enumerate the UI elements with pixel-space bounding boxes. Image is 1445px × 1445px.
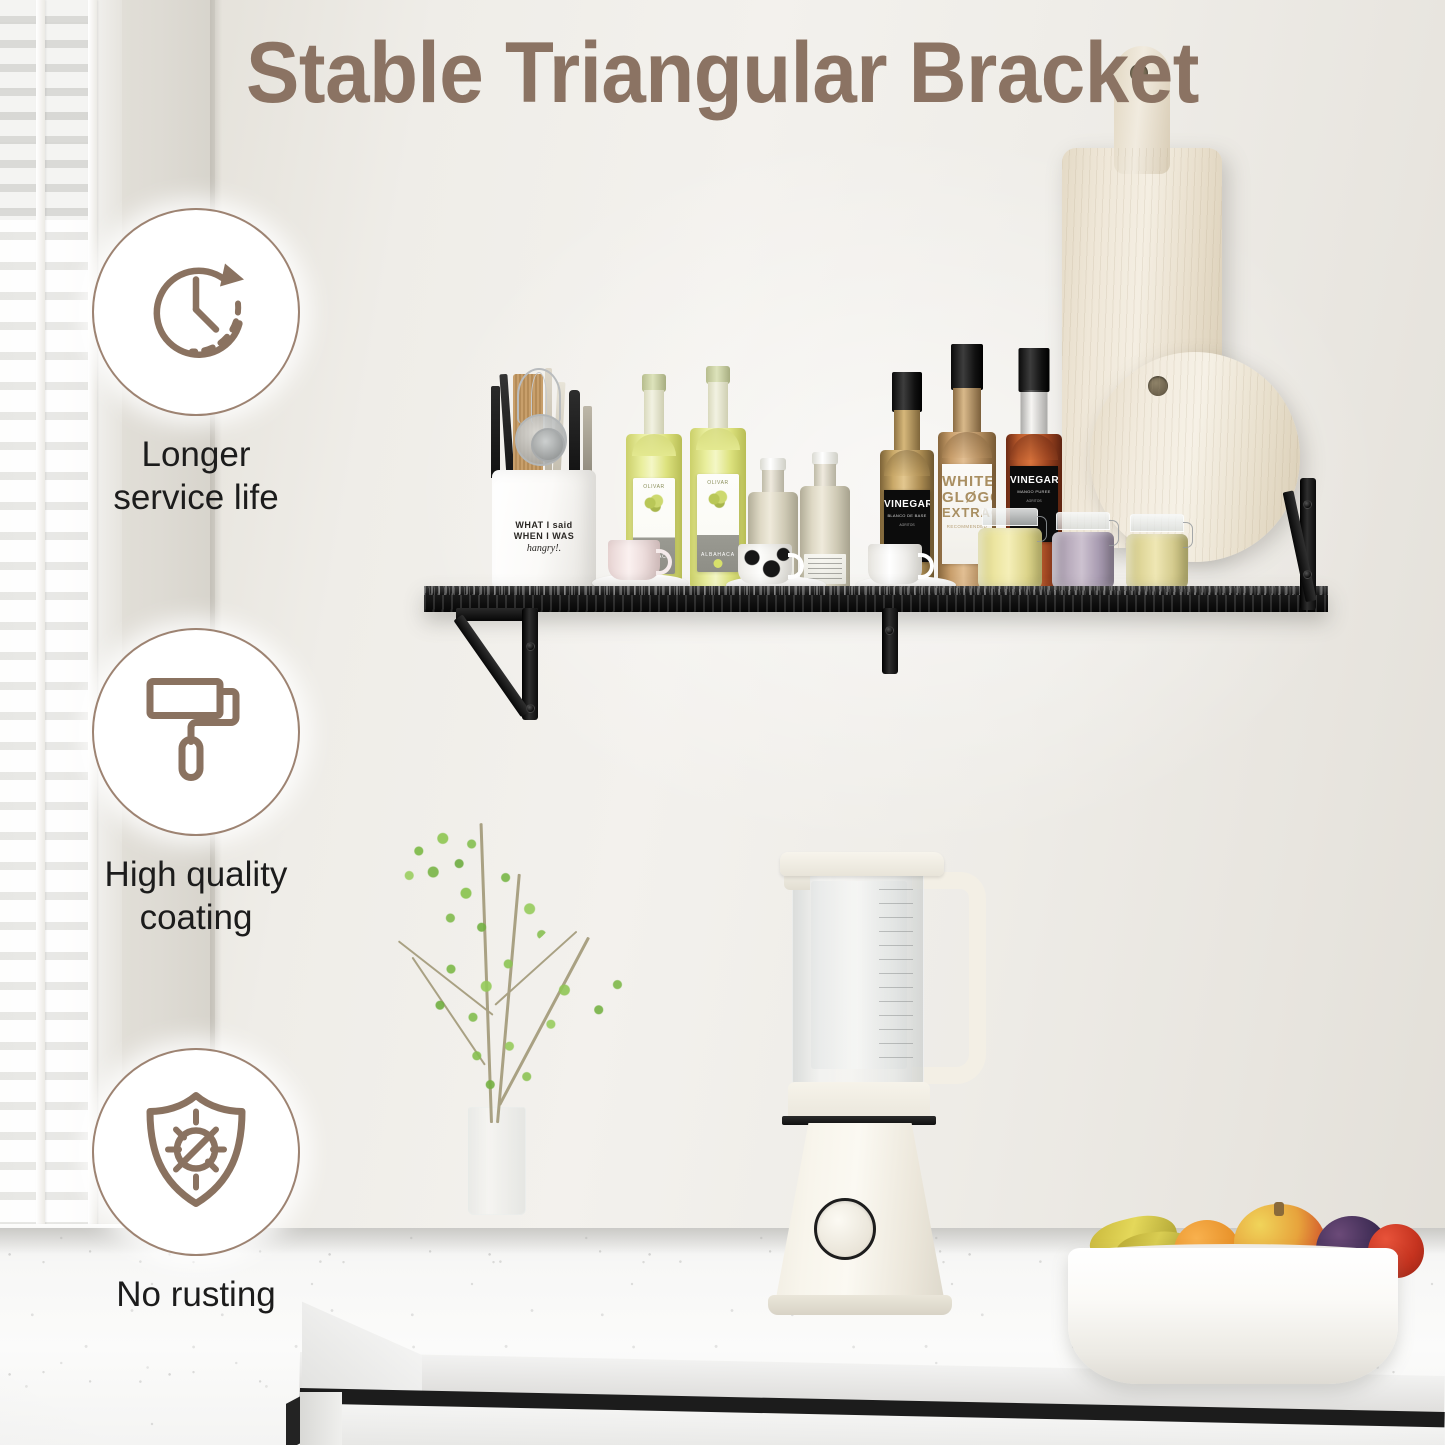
bottle-shoulder — [1010, 434, 1058, 460]
feature-high-quality-coating: High quality coating — [66, 628, 326, 939]
window-mullion-left — [36, 0, 45, 1250]
kitchen-utensils — [487, 366, 605, 478]
jar-clip-lid — [982, 508, 1038, 526]
blender — [762, 840, 1002, 1322]
milk-label-lines — [808, 558, 842, 580]
utensil-scraper — [569, 390, 580, 478]
bracket-screw-bottom — [1303, 570, 1312, 579]
jar-clip-latch — [1109, 520, 1119, 546]
jar-contents-yellow-grain — [978, 528, 1042, 590]
bottle-cap — [951, 344, 983, 390]
plant-leaf-cluster-5 — [448, 1027, 544, 1107]
feature-label-1: Longer service life — [66, 434, 326, 519]
bottle-shoulder — [884, 450, 930, 476]
wood-grain-texture-round — [1090, 352, 1300, 562]
fruit-mango-stem — [1274, 1202, 1284, 1216]
milk-bottle-right — [800, 452, 850, 590]
jar-clip-latch — [1037, 516, 1047, 542]
milk-bottle-body — [800, 486, 850, 590]
paint-roller-icon — [134, 668, 258, 797]
oil-bottle-label: OLIVAR ALBAHACA — [697, 474, 739, 572]
cabinet-side-panel — [300, 1392, 342, 1445]
plant-leaf-cluster-3 — [418, 945, 528, 1031]
bottle-cap — [892, 372, 922, 412]
white-mug — [868, 544, 922, 584]
plant-leaf-cluster-4 — [528, 963, 632, 1053]
feature-badge-circle — [92, 628, 300, 836]
page-title: Stable Triangular Bracket — [51, 24, 1395, 123]
oil-bottle-neck — [644, 390, 664, 440]
jar-clip-lid — [1056, 512, 1111, 530]
jar-contents-mixed-grain — [1126, 534, 1188, 590]
feature-label-3: No rusting — [66, 1274, 326, 1317]
fruit-bowl — [1068, 1196, 1398, 1384]
blender-measurement-marks — [879, 889, 913, 1059]
jar-clip-lid — [1130, 514, 1185, 532]
triangular-bracket-middle — [880, 608, 902, 676]
feature-label-2: High quality coating — [66, 854, 326, 939]
bracket-screw-top — [526, 642, 535, 651]
pink-mug — [608, 540, 660, 580]
bracket-vertical-arm — [882, 608, 898, 674]
utensil-crock: WHAT I said WHEN I WAS hangry!. — [492, 470, 596, 592]
blender-lid — [780, 852, 944, 876]
polka-dot-mug — [738, 544, 792, 584]
bracket-screw — [885, 626, 894, 635]
shelf-top-surface — [424, 586, 1328, 595]
clock-rotate-icon — [132, 246, 260, 379]
cutting-board-round — [1090, 352, 1300, 562]
bottle-shoulder — [942, 432, 992, 458]
feature-badge-circle — [92, 1048, 300, 1256]
strainer-small — [531, 428, 565, 462]
oil-bottle-shoulder — [696, 428, 740, 450]
shield-no-rust-icon — [130, 1084, 262, 1221]
jar-contents-purple-seeds — [1052, 532, 1114, 590]
jar-clip-latch — [1183, 522, 1193, 548]
storage-jar-mixed — [1126, 514, 1188, 590]
storage-jar-yellow — [978, 508, 1042, 590]
bottle-cap — [1019, 348, 1050, 392]
utensil-crock-text: WHAT I said WHEN I WAS hangry!. — [500, 520, 588, 555]
triangular-bracket-right — [1286, 478, 1322, 610]
oil-label-brand: OLIVAR — [697, 480, 739, 486]
bottle-neck — [953, 388, 981, 438]
glass-vase-branch-plant — [372, 795, 632, 1215]
utensil-handle — [583, 406, 592, 478]
oil-label-leaf-graphic — [641, 494, 667, 514]
plant-leaf-cluster-2 — [436, 861, 556, 953]
blender-control-knob[interactable] — [814, 1198, 876, 1260]
blender-foot — [768, 1295, 952, 1315]
bottle-neck — [1021, 390, 1048, 438]
oil-bottle-shoulder — [632, 434, 676, 456]
bracket-screw-top — [1303, 500, 1312, 509]
oil-label-leaf-graphic — [705, 490, 731, 510]
oil-bottle-neck — [708, 382, 728, 434]
glass-vase — [468, 1107, 526, 1215]
product-lifestyle-scene: WHAT I said WHEN I WAS hangry!. OLIVAR A… — [0, 0, 1445, 1445]
fruit-bowl-vessel — [1068, 1248, 1398, 1384]
feature-longer-service-life: Longer service life — [66, 208, 326, 519]
blender-jar — [792, 870, 924, 1090]
storage-jar-purple — [1052, 512, 1114, 590]
triangular-bracket-left — [456, 608, 566, 724]
feature-no-rusting: No rusting — [66, 1048, 326, 1317]
oil-label-brand: OLIVAR — [633, 484, 675, 490]
feature-badge-circle — [92, 208, 300, 416]
oil-label-dot — [714, 559, 723, 568]
utensil-spatula-black — [491, 386, 500, 478]
bracket-diagonal-brace — [453, 614, 530, 717]
bracket-screw-bottom — [526, 704, 535, 713]
